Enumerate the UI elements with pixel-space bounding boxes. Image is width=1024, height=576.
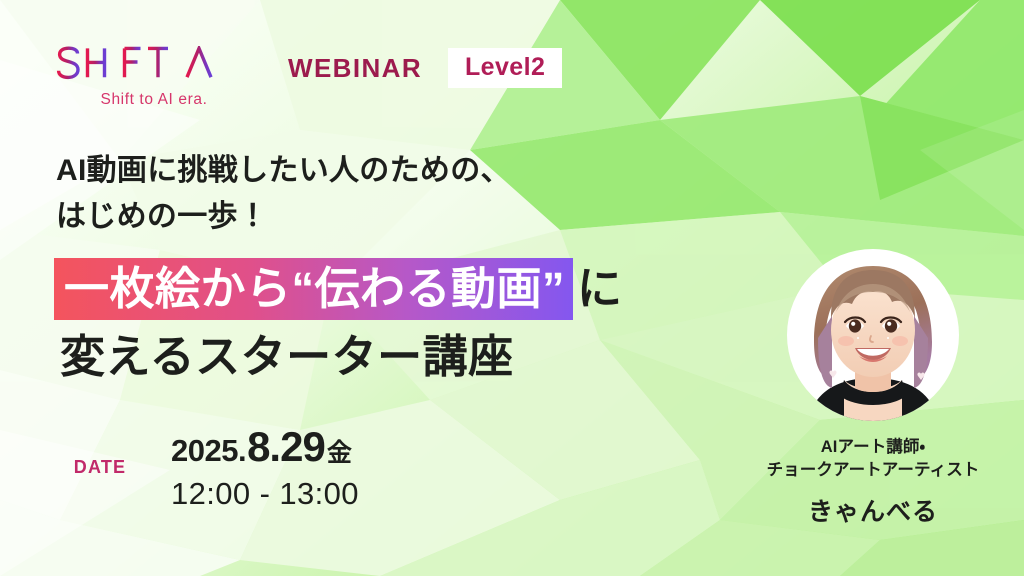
main-title: 一枚絵から“伝わる動画” に 変えるスターター講座	[54, 258, 784, 382]
presenter-role: AIアート講師・ チョークアートアーティスト	[757, 436, 989, 483]
webinar-banner: Shift to AI era. WEBINAR Level2 AI動画に挑戦し…	[0, 0, 1024, 576]
shift-ai-logo: Shift to AI era.	[56, 46, 266, 109]
main-title-line-2: 変えるスターター講座	[54, 332, 784, 382]
shift-ai-wordmark-icon	[56, 46, 252, 86]
date-circle-label: DATE	[74, 457, 126, 478]
date-circle-badge: DATE	[57, 424, 143, 510]
date-year: 2025.	[171, 435, 246, 466]
subheadline-line-1: AI動画に挑戦したい人のための、	[56, 148, 696, 194]
presenter-name: きゃんべる	[757, 492, 989, 528]
webinar-label: WEBINAR	[288, 53, 422, 84]
date-day: 8.29	[247, 426, 325, 468]
date-block: DATE 2025. 8.29 金 12:00 - 13:00	[57, 424, 359, 510]
subheadline-line-2: はじめの一歩！	[56, 194, 696, 240]
presenter-block: AIアート講師・ チョークアートアーティスト きゃんべる	[757, 246, 989, 528]
level-badge: Level2	[448, 48, 562, 88]
subheadline: AI動画に挑戦したい人のための、 はじめの一歩！	[56, 148, 696, 239]
presenter-portrait-icon	[784, 246, 962, 424]
date-time: 12:00 - 13:00	[171, 478, 359, 509]
presenter-role-line-2: チョークアートアーティスト	[757, 459, 989, 482]
logo-tagline: Shift to AI era.	[56, 91, 252, 109]
date-weekday: 金	[327, 441, 352, 466]
main-title-line-1: 一枚絵から“伝わる動画” に	[54, 258, 784, 320]
avatar	[784, 246, 962, 424]
date-text: 2025. 8.29 金 12:00 - 13:00	[171, 426, 359, 509]
brand-header: Shift to AI era. WEBINAR Level2	[56, 46, 562, 109]
main-title-highlight: 一枚絵から“伝わる動画”	[54, 258, 573, 320]
main-title-tail: に	[573, 258, 623, 320]
date-line: 2025. 8.29 金	[171, 426, 359, 468]
presenter-role-line-1: AIアート講師・	[757, 436, 989, 459]
